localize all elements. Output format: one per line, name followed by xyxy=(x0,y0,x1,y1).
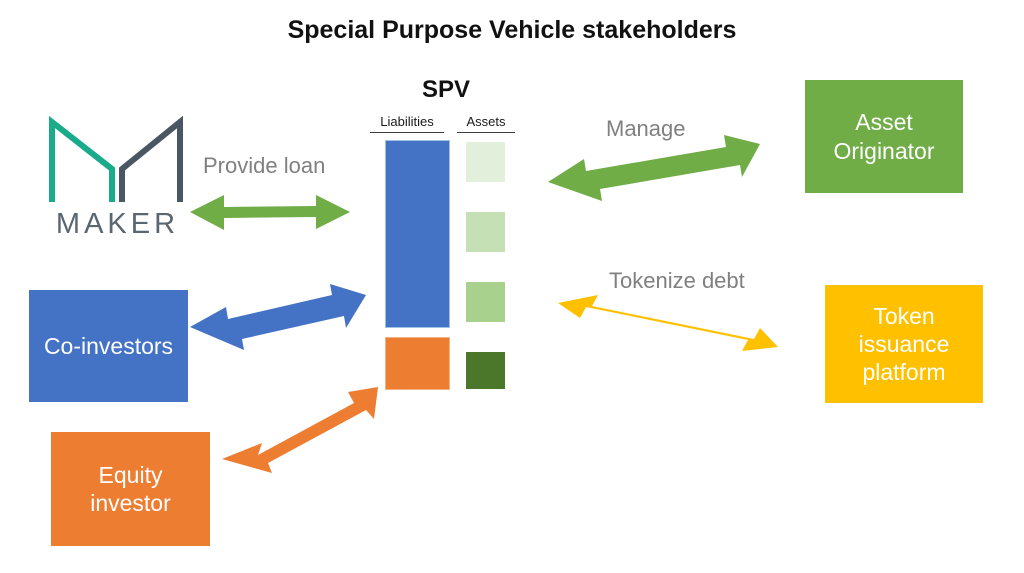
box-equity-investor-label-line1: Equity xyxy=(99,461,163,489)
manage-arrow xyxy=(548,140,764,194)
maker-logo xyxy=(46,112,186,202)
box-asset-originator-label-line2: Originator xyxy=(834,137,935,165)
maker-left-mark xyxy=(52,122,112,200)
box-equity-investor[interactable]: Equity investor xyxy=(51,432,210,546)
box-co-investors-label: Co-investors xyxy=(44,332,173,360)
liabilities-column-label: Liabilities xyxy=(370,114,444,133)
box-token-platform-label-line3: platform xyxy=(862,358,945,386)
bar-senior-debt xyxy=(386,141,449,327)
diagram-canvas: Special Purpose Vehicle stakeholders MAK… xyxy=(0,0,1024,573)
bar-asset-4 xyxy=(466,352,505,389)
provide-loan-arrow xyxy=(190,190,350,234)
bar-asset-1 xyxy=(466,142,505,182)
box-co-investors[interactable]: Co-investors xyxy=(29,290,188,402)
co-investors-arrow xyxy=(190,293,366,337)
spv-heading: SPV xyxy=(386,76,506,104)
maker-wordmark: MAKER xyxy=(40,208,195,241)
equity-investor-arrow xyxy=(222,387,378,465)
tokenize-debt-arrow xyxy=(558,295,782,351)
page-title: Special Purpose Vehicle stakeholders xyxy=(0,16,1024,45)
box-asset-originator[interactable]: Asset Originator xyxy=(805,80,963,193)
tokenize-debt-label: Tokenize debt xyxy=(609,268,745,294)
manage-label: Manage xyxy=(606,116,686,142)
maker-right-mark xyxy=(122,122,180,200)
box-asset-originator-label-line1: Asset xyxy=(855,108,913,136)
provide-loan-label: Provide loan xyxy=(203,153,325,179)
bar-asset-2 xyxy=(466,212,505,252)
bar-asset-3 xyxy=(466,282,505,322)
bar-equity xyxy=(386,338,449,389)
box-token-platform-label-line1: Token xyxy=(873,302,934,330)
box-token-platform[interactable]: Token issuance platform xyxy=(825,285,983,403)
box-equity-investor-label-line2: investor xyxy=(90,489,171,517)
box-token-platform-label-line2: issuance xyxy=(859,330,950,358)
assets-column-label: Assets xyxy=(457,114,515,133)
